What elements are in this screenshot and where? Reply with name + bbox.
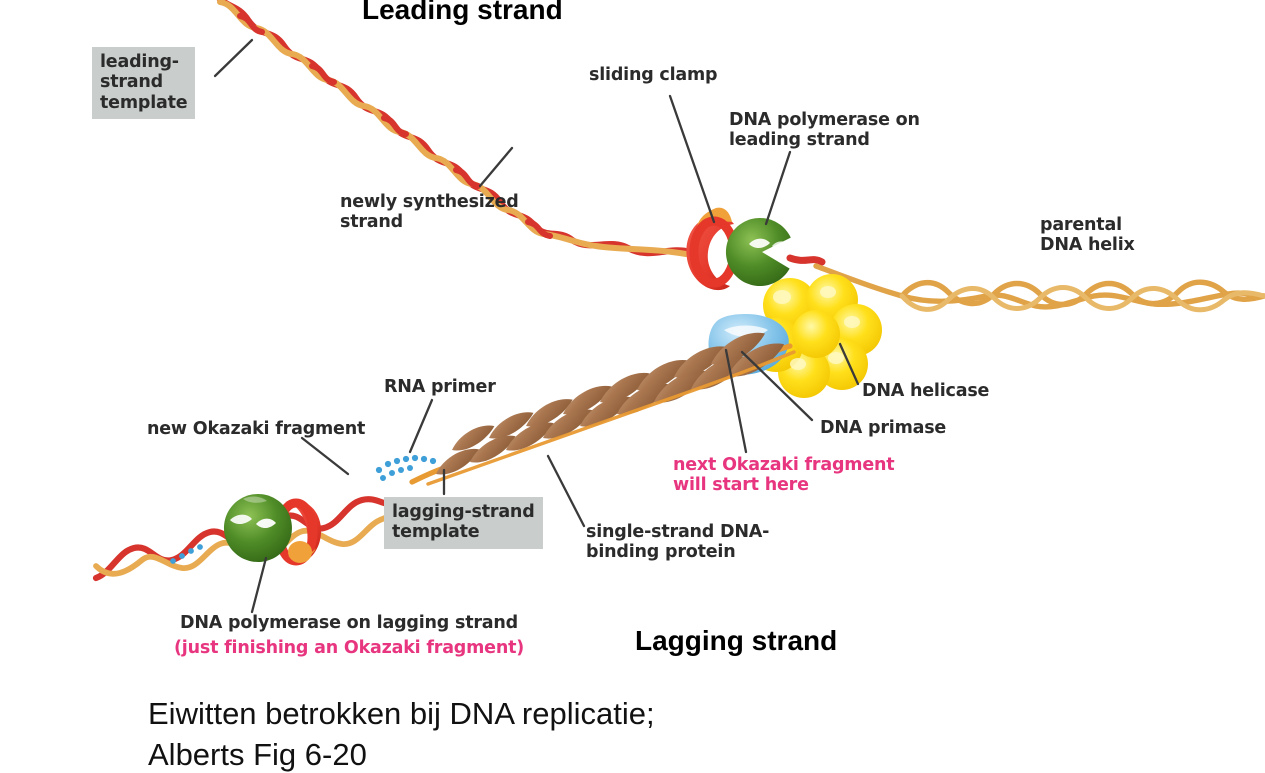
- label-dna-helicase: DNA helicase: [862, 381, 989, 401]
- caption-line-2: Alberts Fig 6-20: [148, 735, 367, 773]
- label-dna-polymerase-leading: DNA polymerase on leading strand: [729, 110, 920, 151]
- parental-dna-helix-shape: [816, 266, 1264, 310]
- label-new-okazaki-fragment: new Okazaki fragment: [147, 419, 365, 439]
- label-just-finishing-okazaki: (just finishing an Okazaki fragment): [174, 638, 524, 658]
- dna-polymerase-leading-shape: [726, 218, 822, 286]
- label-dna-polymerase-lagging: DNA polymerase on lagging strand: [180, 613, 518, 633]
- label-dna-primase: DNA primase: [820, 418, 946, 438]
- label-sliding-clamp: sliding clamp: [589, 65, 717, 85]
- label-next-okazaki-fragment: next Okazaki fragment will start here: [673, 455, 894, 496]
- dna-replication-figure: Leading strand Lagging strand leading- s…: [0, 0, 1265, 773]
- lagging-strand-title: Lagging strand: [635, 625, 837, 657]
- leading-strand-title: Leading strand: [362, 0, 563, 26]
- label-rna-primer: RNA primer: [384, 377, 496, 397]
- label-leading-strand-template: leading- strand template: [92, 47, 195, 119]
- label-single-strand-dna-binding-protein: single-strand DNA- binding protein: [586, 522, 769, 563]
- label-parental-dna-helix: parental DNA helix: [1040, 215, 1135, 256]
- label-lagging-strand-template: lagging-strand template: [384, 497, 543, 549]
- caption-line-1: Eiwitten betrokken bij DNA replicatie;: [148, 694, 655, 734]
- label-newly-synthesized-strand: newly synthesized strand: [340, 192, 519, 233]
